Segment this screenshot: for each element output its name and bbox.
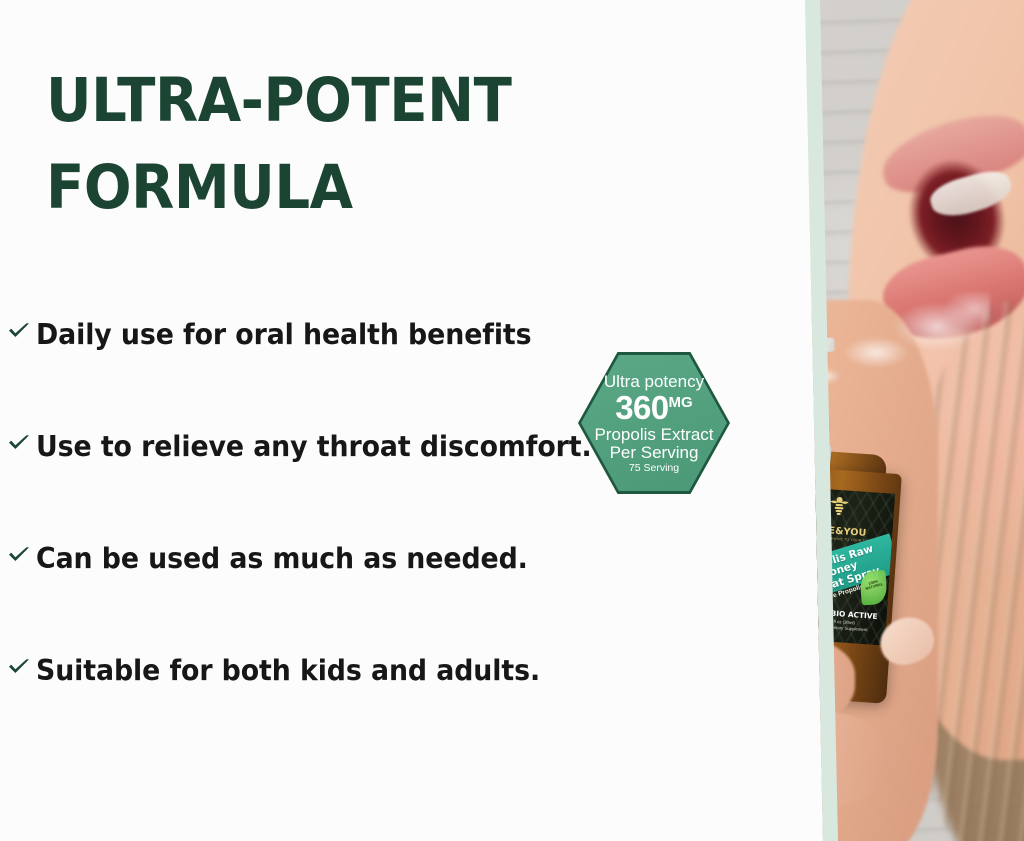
badge-dose-unit: MG (669, 394, 693, 411)
badge-line-serving-count: 75 Serving (629, 463, 679, 474)
check-icon (6, 654, 36, 680)
supplement-facts-side-text: Supplement Facts (759, 500, 779, 628)
badge-content: Ultra potency 360MG Propolis Extract Per… (578, 352, 730, 494)
benefit-label: Use to relieve any throat discomfort. (36, 433, 592, 462)
list-item: Daily use for oral health benefits (6, 318, 666, 430)
list-item: Can be used as much as needed. (6, 542, 666, 654)
badge-dose-amount: 360 (615, 389, 668, 426)
benefit-label: Daily use for oral health benefits (36, 321, 531, 350)
badge-dose: 360MG (615, 391, 692, 424)
check-icon (6, 318, 36, 344)
check-icon (6, 542, 36, 568)
bottle-highlight (782, 467, 820, 698)
page-title: ULTRA-POTENT FORMULA (46, 58, 616, 231)
list-item: Suitable for both kids and adults. (6, 654, 666, 766)
badge-line-propolis-extract: Propolis Extract (594, 426, 713, 444)
finger (730, 712, 890, 808)
potency-badge: Ultra potency 360MG Propolis Extract Per… (578, 352, 730, 494)
benefits-list: Daily use for oral health benefits Use t… (6, 318, 666, 766)
finger (695, 560, 821, 646)
bioactive-badge: BIO ACTIVE 1 fl oz (30ml) Dietary Supple… (830, 610, 885, 634)
bioactive-sublabel: 1 fl oz (30ml) Dietary Supplement (830, 619, 885, 633)
list-item: Use to relieve any throat discomfort. (6, 430, 666, 542)
bottle-label: BEE&YOU FROM THE BEEHIVE TO YOUR TABLE P… (779, 486, 895, 645)
product-feature-image: BEE&YOU FROM THE BEEHIVE TO YOUR TABLE P… (0, 0, 1024, 841)
badge-line-per-serving: Per Serving (610, 444, 699, 462)
check-icon (6, 430, 36, 456)
badge-line-ultra-potency: Ultra potency (604, 373, 704, 391)
benefit-label: Can be used as much as needed. (36, 545, 528, 574)
benefit-label: Suitable for both kids and adults. (36, 657, 540, 686)
